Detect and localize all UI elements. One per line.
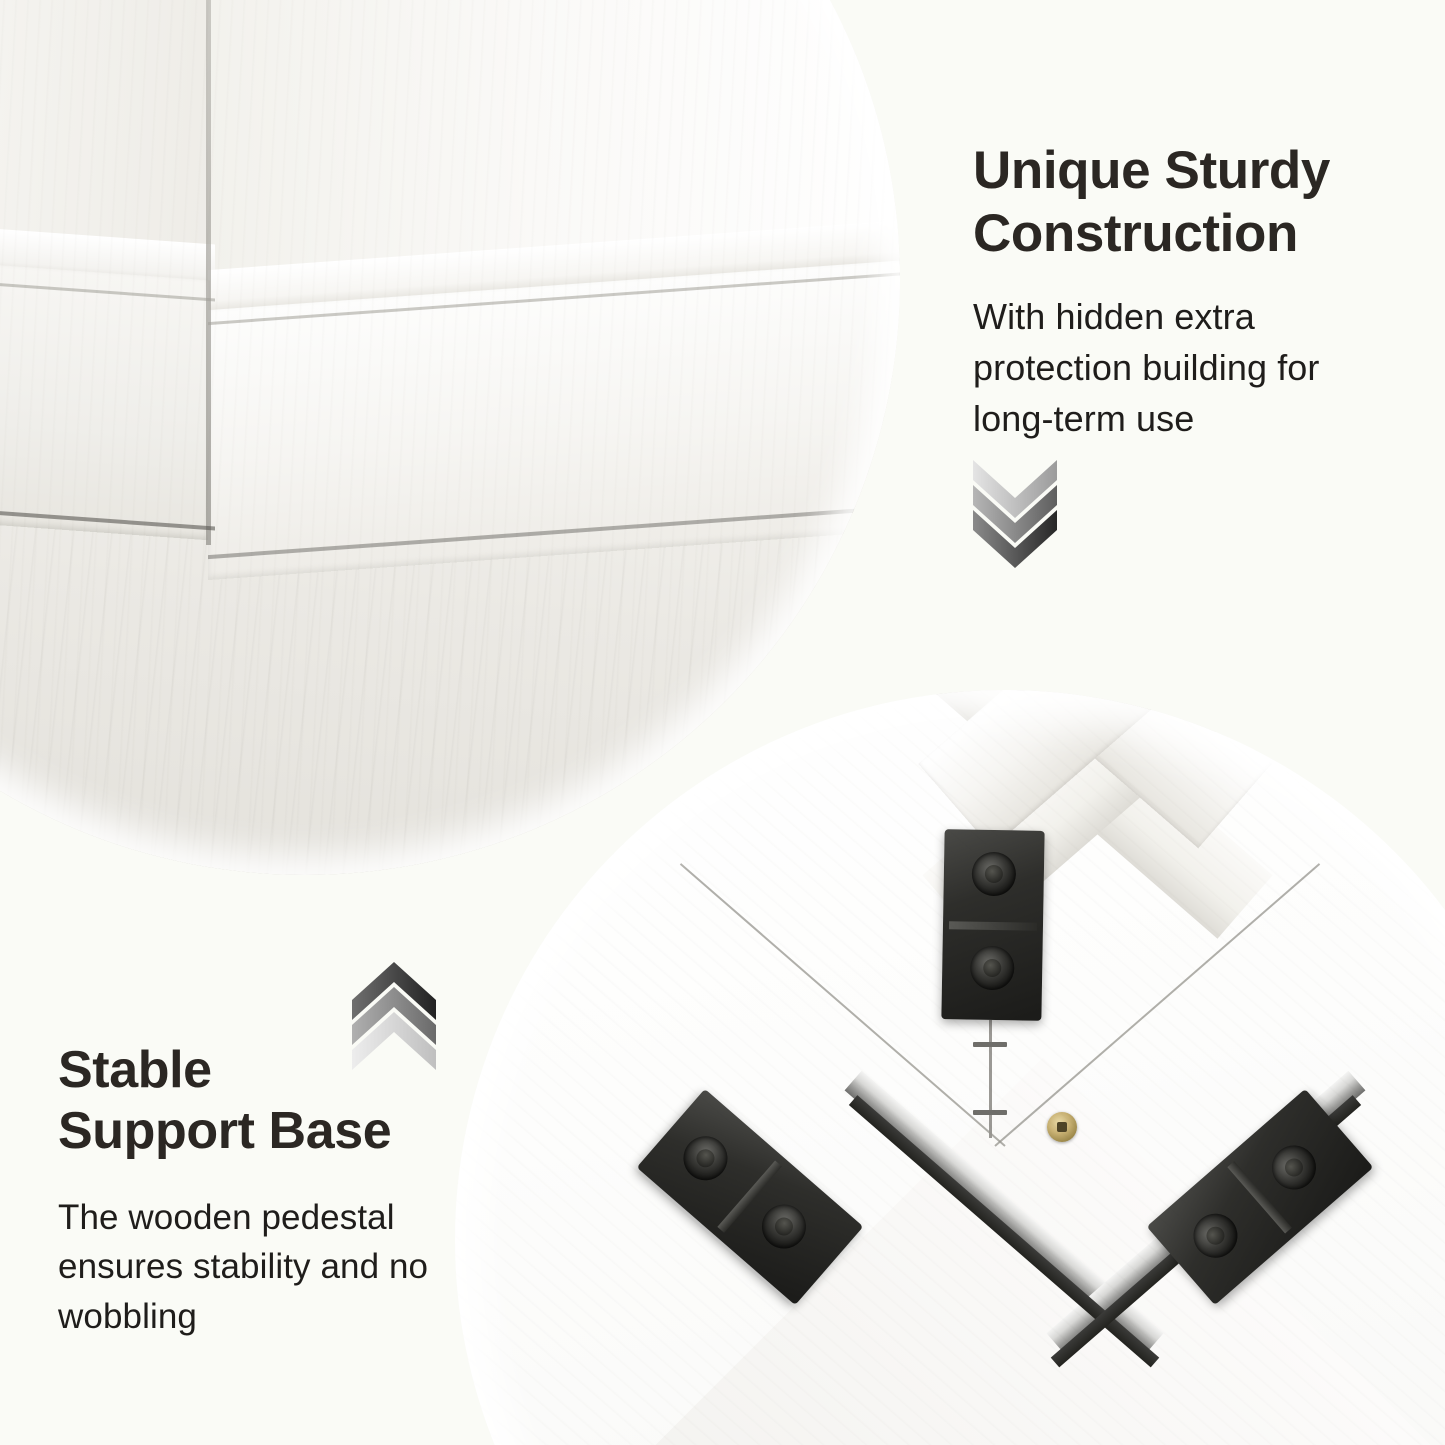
chevron-down-triple-icon <box>963 458 1068 568</box>
page-title: Unique Sturdy Construction <box>973 140 1403 265</box>
feature-description-top: With hidden extra protection building fo… <box>973 291 1403 444</box>
corner-bracket-underside-photo <box>455 690 1445 1445</box>
cabinet-underside-assembly <box>455 690 1445 1445</box>
photo-scene-bottom-right <box>455 690 1445 1445</box>
feature-block-sturdy-construction: Unique Sturdy Construction With hidden e… <box>973 140 1403 444</box>
infographic-canvas: Unique Sturdy Construction With hidden e… <box>0 0 1445 1445</box>
feature-block-stable-support-base: Stable Support Base The wooden pedestal … <box>58 1040 508 1342</box>
section-title: Stable Support Base <box>58 1040 508 1163</box>
wood-grain-texture <box>455 690 1445 1445</box>
feature-description-bottom: The wooden pedestal ensures stability an… <box>58 1193 508 1342</box>
